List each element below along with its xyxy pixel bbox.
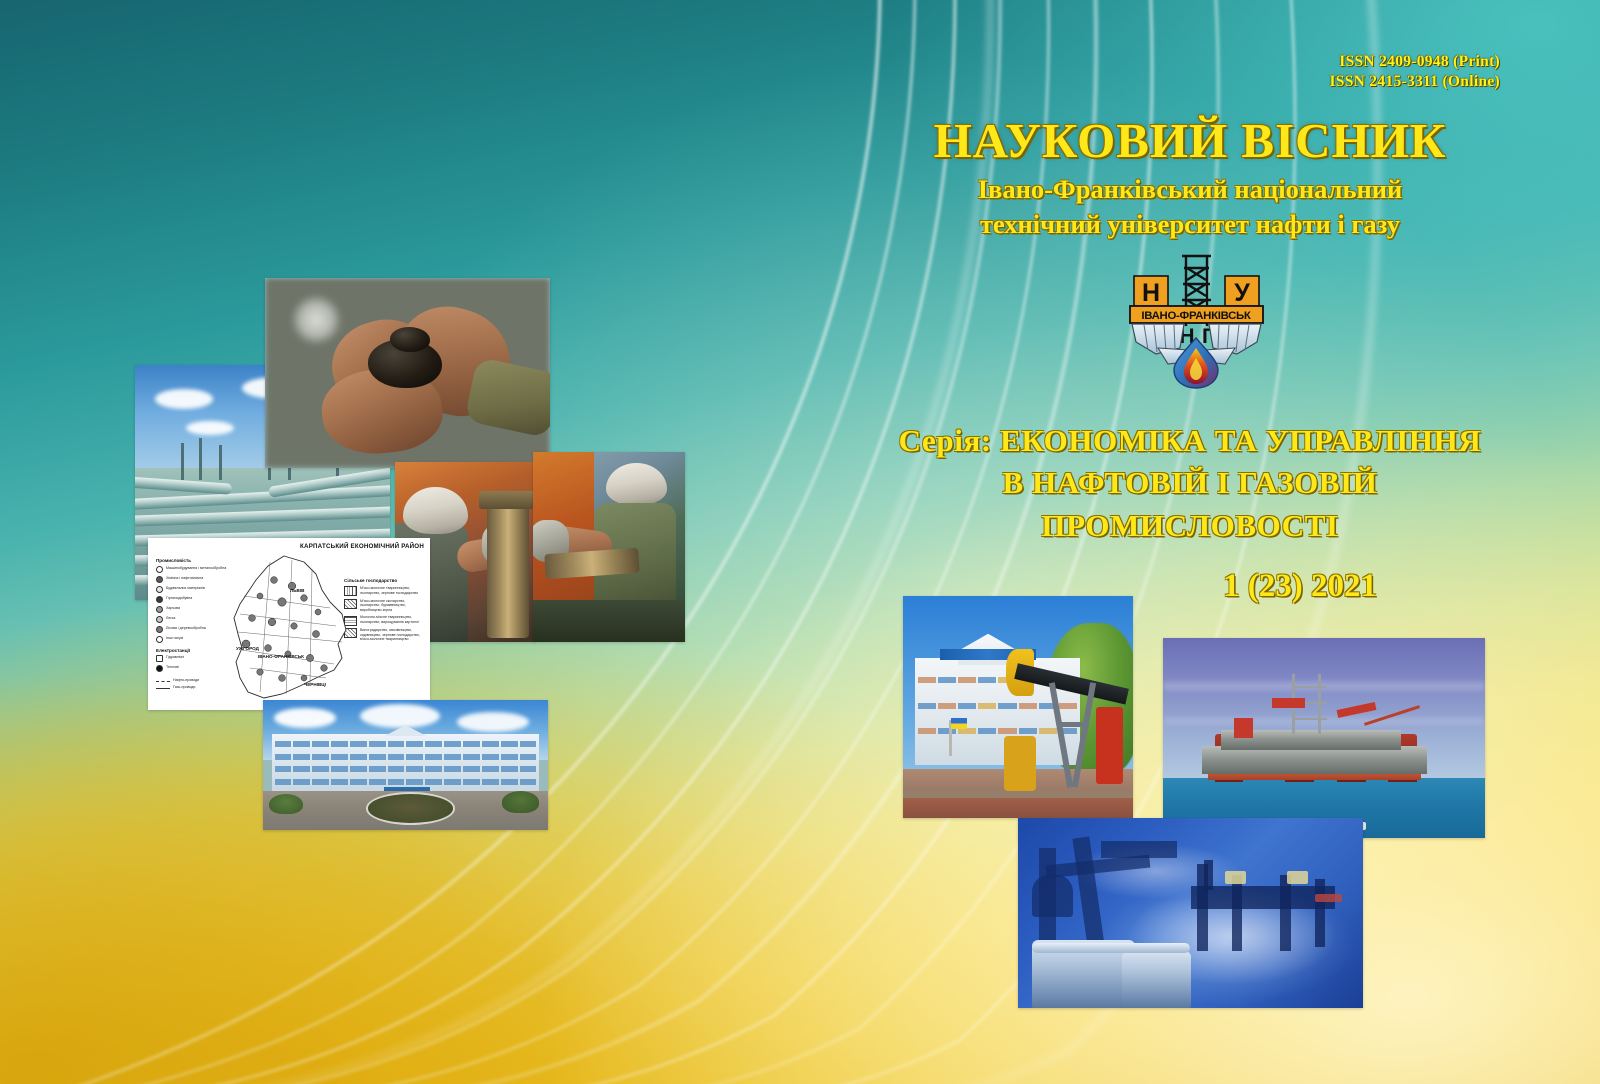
map-legend-item: Будівельних матеріалів [166,586,205,591]
map-legend-item: М'ясо-молочне скотарство, льонарство, бу… [360,599,424,613]
map-legend-item: Гідравлічні [166,655,184,660]
map-legend-item: Теплові [166,665,179,670]
map-legend-item: Виноградарство, овочівництво, садівництв… [360,628,424,642]
emblem-banner-text: ІВАНО-ФРАНКІВСЬК [1141,310,1251,322]
map-legend-item: М'ясо-молочне тваринництво, льонарство, … [360,586,424,595]
map-legend-item: Лісова і деревообробна [166,626,206,631]
map-legend-item: Нафто-проводи [173,678,199,683]
issn-print: ISSN 2409-0948 (Print) [1100,52,1500,72]
map-legend-item: Газо-проводи [173,685,195,690]
map-legend-industry: Промисловість Машинобудування і металооб… [156,558,236,692]
photo-blue-industry-montage [1018,818,1363,1008]
photo-worker-right [533,452,685,642]
map-city-label: ІВАНО-ФРАНКІВСЬК [258,654,304,659]
university-name-line1: Івано-Франківський національний [860,172,1520,207]
photo-carpathian-map: КАРПАТСЬКИЙ ЕКОНОМІЧНИЙ РАЙОН Промислові… [148,538,430,710]
map-city-label: ЧЕРНІВЦІ [304,682,326,687]
journal-cover: КАРПАТСЬКИЙ ЕКОНОМІЧНИЙ РАЙОН Промислові… [0,0,1600,1084]
photo-oily-hands [265,278,550,468]
photo-university-pumpjack [903,596,1133,818]
series-line3: ПРОМИСЛОВОСТІ [840,505,1540,547]
map-legend-item: Харчова [166,606,180,611]
map-legend-item: Машинобудування і металообробна [166,566,226,571]
series-title: Серія: ЕКОНОМІКА ТА УПРАВЛІННЯ В НАФТОВІ… [840,420,1540,547]
emblem-letter-u: У [1234,279,1250,307]
issn-online: ISSN 2415-3311 (Online) [1100,72,1500,92]
pumpjack-icon [1009,627,1133,809]
map-legend-item: Молочно-м'ясне тваринництво, льонарство,… [360,615,424,624]
map-legend-agriculture: Сільське господарство М'ясо-молочне твар… [344,578,424,645]
map-title: КАРПАТСЬКИЙ ЕКОНОМІЧНИЙ РАЙОН [300,543,424,550]
map-legend-item: Інші галузі [166,636,183,641]
photo-offshore-platform [1163,638,1485,838]
map-legend-item: Гірничодобувна [166,596,192,601]
series-line1: Серія: ЕКОНОМІКА ТА УПРАВЛІННЯ [840,420,1540,462]
issn-block: ISSN 2409-0948 (Print) ISSN 2415-3311 (O… [1100,52,1500,92]
map-legend-item: Легка [166,616,175,621]
map-region-outline: ЛЬВІВ ІВАНО-ФРАНКІВСЬК ЧЕРНІВЦІ УЖГОРОД [230,552,350,704]
map-city-label: ЛЬВІВ [290,588,305,593]
issue-number: 1 (23) 2021 [1100,568,1500,605]
map-legend-item: Хімічна і нафтохімічна [166,576,203,581]
university-name: Івано-Франківський національний технічни… [860,172,1520,242]
series-line2: В НАФТОВІЙ І ГАЗОВІЙ [840,462,1540,504]
photo-university-building [263,700,548,830]
emblem-letter-n: Н [1142,279,1160,307]
university-name-line2: технічний університет нафти і газу [860,207,1520,242]
journal-title: НАУКОВИЙ ВІСНИК [860,112,1520,169]
map-city-label: УЖГОРОД [236,646,260,651]
university-emblem: Н У ІВАНО-ФРАНКІВСЬК Н Г [1124,250,1269,390]
